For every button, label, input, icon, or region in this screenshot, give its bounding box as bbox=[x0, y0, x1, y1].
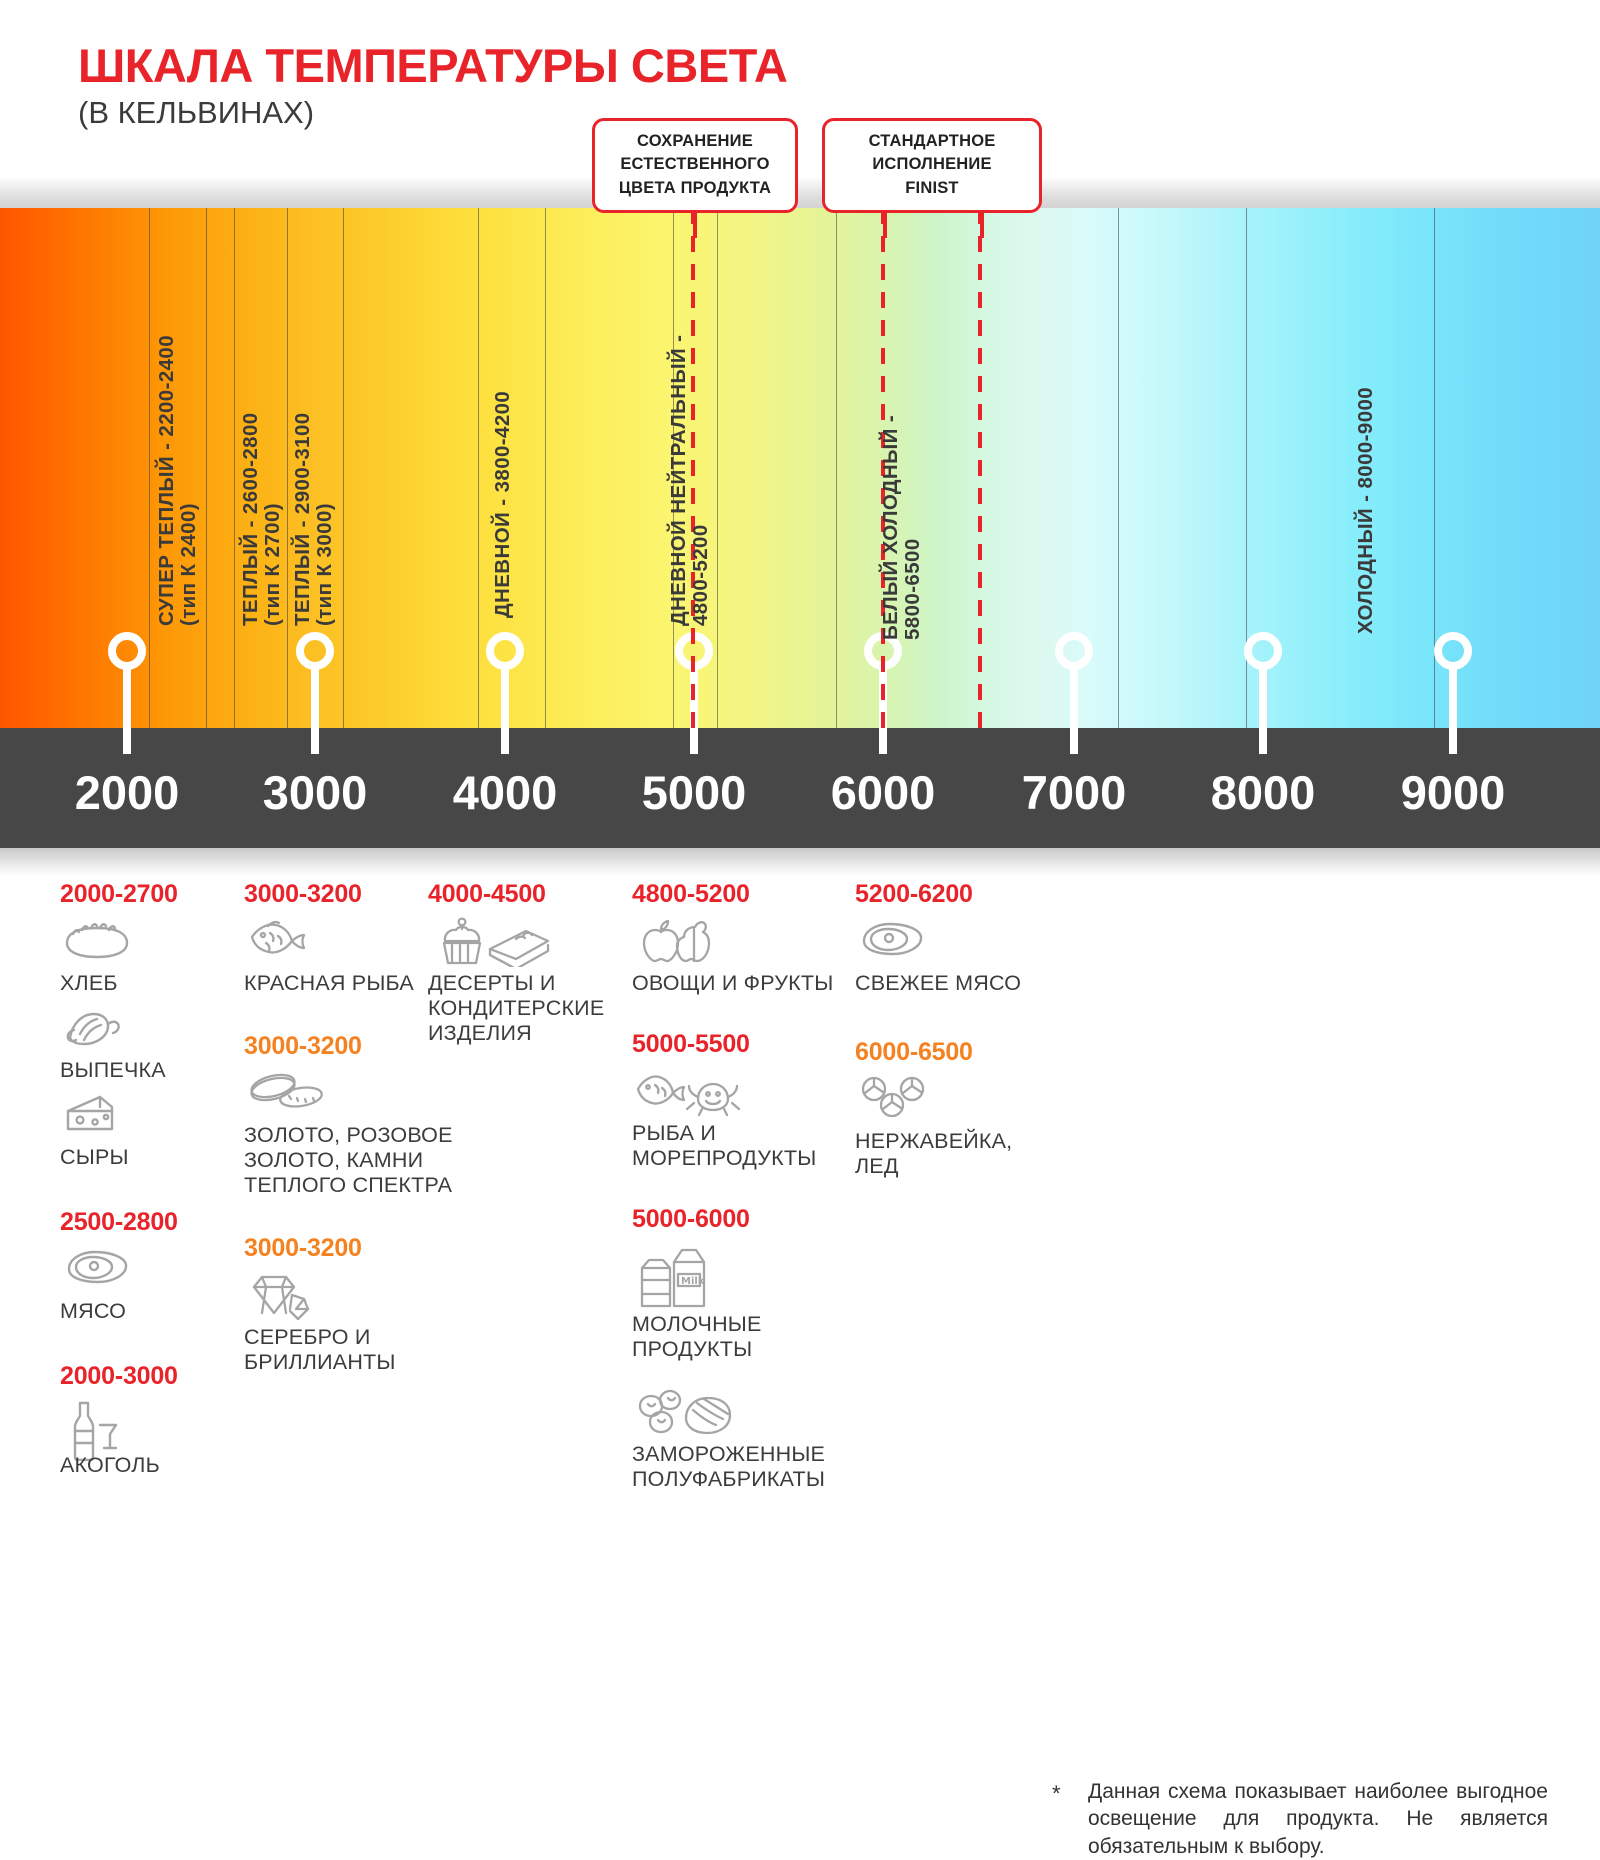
legend-range: 2000-2700 bbox=[60, 880, 235, 909]
legend-group: 4000-4500 ДЕСЕРТЫ И КОНДИТЕРСКИЕ ИЗДЕЛИЯ bbox=[428, 880, 628, 1046]
legend-caption: СЕРЕБРО И БРИЛЛИАНТЫ bbox=[244, 1325, 396, 1374]
legend-caption: ЗАМОРОЖЕННЫЕ ПОЛУФАБРИКАТЫ bbox=[632, 1442, 825, 1491]
croissant-icon bbox=[62, 1004, 235, 1056]
band-label-white-cold-main: БЕЛЫЙ ХОЛОДНЫЙ - bbox=[879, 415, 902, 640]
bottle-glass-icon bbox=[62, 1399, 235, 1451]
fresh-meat-icon bbox=[857, 917, 1035, 969]
legend-group: 6000-6500 НЕРЖАВЕЙКА, ЛЕД bbox=[855, 1038, 1035, 1179]
legend-item[interactable]: СВЕЖЕЕ МЯСО bbox=[855, 917, 1035, 996]
band-label-white-cold-sub: 5800-6500 bbox=[902, 310, 924, 640]
band-divider bbox=[343, 208, 344, 728]
band-label-cold-main: ХОЛОДНЫЙ - 8000-9000 bbox=[1354, 387, 1377, 634]
fish-crab-icon bbox=[634, 1067, 847, 1119]
scale-tick-7000: 7000 bbox=[1022, 765, 1127, 820]
pin-stem bbox=[311, 668, 319, 754]
legend-caption: КРАСНАЯ РЫБА bbox=[244, 971, 414, 995]
legend-group: 5000-6000 Milk МОЛОЧНЫЕ ПРОДУКТЫ ЗАМОРОЖ… bbox=[632, 1205, 847, 1492]
legend-item[interactable]: ОВОЩИ И ФРУКТЫ bbox=[632, 917, 847, 996]
pin-ring-icon bbox=[296, 632, 334, 670]
pin-ring-icon bbox=[1055, 632, 1093, 670]
footnote-text: Данная схема показывает наиболее выгодно… bbox=[1088, 1778, 1548, 1860]
legend-item[interactable]: НЕРЖАВЕЙКА, ЛЕД bbox=[855, 1075, 1035, 1179]
legend-caption: ЗОЛОТО, РОЗОВОЕ ЗОЛОТО, КАМНИ ТЕПЛОГО СП… bbox=[244, 1123, 453, 1197]
steak-icon bbox=[62, 1245, 235, 1297]
legend-group: 2000-3000 АКОГОЛЬ bbox=[60, 1362, 235, 1478]
legend-caption: МЯСО bbox=[60, 1299, 126, 1323]
rings-icon bbox=[246, 1069, 484, 1121]
cupcake-cake-icon bbox=[430, 917, 628, 969]
pin-ring-icon bbox=[1244, 632, 1282, 670]
callout-natural-color-line-2: ЕСТЕСТВЕННОГО bbox=[609, 153, 781, 176]
legend-item[interactable]: МЯСО bbox=[60, 1245, 235, 1324]
cheese-icon bbox=[62, 1091, 235, 1143]
legend-caption: АКОГОЛЬ bbox=[60, 1453, 160, 1477]
legend-caption: РЫБА И МОРЕПРОДУКТЫ bbox=[632, 1121, 816, 1170]
legend-range: 4800-5200 bbox=[632, 880, 847, 909]
legend-item[interactable]: ЗОЛОТО, РОЗОВОЕ ЗОЛОТО, КАМНИ ТЕПЛОГО СП… bbox=[244, 1069, 484, 1198]
strip-top-shadow bbox=[0, 176, 1600, 208]
legend-column-5: 5200-6200 СВЕЖЕЕ МЯСО 6000-6500 НЕРЖАВЕЙ… bbox=[855, 880, 1035, 1187]
band-label-super-warm: СУПЕР ТЕПЛЫЙ - 2200-2400 (тип К 2400) bbox=[156, 236, 200, 626]
legend-group: 4800-5200 ОВОЩИ И ФРУКТЫ bbox=[632, 880, 847, 996]
legend-column-1: 2000-2700 ХЛЕБ ВЫПЕЧКА СЫРЫ 25 bbox=[60, 880, 235, 1486]
scale-tick-5000: 5000 bbox=[642, 765, 747, 820]
legend-group: 3000-3200 СЕРЕБРО И БРИЛЛИАНТЫ bbox=[244, 1234, 484, 1375]
band-label-daylight-neutral-sub: 4800-5200 bbox=[690, 236, 712, 626]
scale-tick-8000: 8000 bbox=[1211, 765, 1316, 820]
band-divider bbox=[206, 208, 207, 728]
band-divider bbox=[287, 208, 288, 728]
pin-stem bbox=[1259, 668, 1267, 754]
pin-stem bbox=[1070, 668, 1078, 754]
header: ШКАЛА ТЕМПЕРАТУРЫ СВЕТА (В КЕЛЬВИНАХ) bbox=[0, 0, 1600, 200]
band-label-daylight-neutral: ДНЕВНОЙ НЕЙТРАЛЬНЫЙ - 4800-5200 bbox=[668, 236, 712, 626]
legend-group: 5200-6200 СВЕЖЕЕ МЯСО bbox=[855, 880, 1035, 996]
legend-column-4: 4800-5200 ОВОЩИ И ФРУКТЫ 5000-5500 РЫБА … bbox=[632, 880, 847, 1500]
band-label-daylight-neutral-main: ДНЕВНОЙ НЕЙТРАЛЬНЫЙ - bbox=[667, 335, 690, 626]
legend-item[interactable]: ДЕСЕРТЫ И КОНДИТЕРСКИЕ ИЗДЕЛИЯ bbox=[428, 917, 628, 1046]
footnote: * Данная схема показывает наиболее выгод… bbox=[1052, 1778, 1548, 1860]
legend-item[interactable]: ХЛЕБ bbox=[60, 917, 235, 996]
legend-caption: ОВОЩИ И ФРУКТЫ bbox=[632, 971, 833, 995]
band-label-warm-3000-sub: (тип К 3000) bbox=[314, 326, 336, 626]
band-label-warm-2700: ТЕПЛЫЙ - 2600-2800 (тип К 2700) bbox=[240, 326, 284, 626]
page-title: ШКАЛА ТЕМПЕРАТУРЫ СВЕТА bbox=[78, 38, 787, 93]
frozen-food-icon bbox=[634, 1388, 847, 1440]
band-divider bbox=[545, 208, 546, 728]
callout-finist-line-2: ИСПОЛНЕНИЕ bbox=[839, 153, 1025, 176]
legend-item[interactable]: РЫБА И МОРЕПРОДУКТЫ bbox=[632, 1067, 847, 1171]
legend-caption: НЕРЖАВЕЙКА, ЛЕД bbox=[855, 1129, 1012, 1178]
legend-range: 5200-6200 bbox=[855, 880, 1035, 909]
legend-column-3: 4000-4500 ДЕСЕРТЫ И КОНДИТЕРСКИЕ ИЗДЕЛИЯ bbox=[428, 880, 628, 1054]
scale-pin-3000[interactable] bbox=[296, 632, 334, 754]
dashed-marker-finist-right bbox=[978, 208, 982, 728]
legend-item[interactable]: СЫРЫ bbox=[60, 1091, 235, 1170]
legend-caption: ВЫПЕЧКА bbox=[60, 1058, 166, 1082]
callout-finist-standard[interactable]: СТАНДАРТНОЕ ИСПОЛНЕНИЕ FINIST bbox=[822, 118, 1042, 213]
scale-pin-8000[interactable] bbox=[1244, 632, 1282, 754]
footnote-marker: * bbox=[1052, 1780, 1061, 1809]
band-label-white-cold: БЕЛЫЙ ХОЛОДНЫЙ - 5800-6500 bbox=[880, 310, 924, 640]
band-label-daylight: ДНЕВНОЙ - 3800-4200 bbox=[492, 318, 514, 618]
bread-icon bbox=[62, 917, 235, 969]
pin-ring-icon bbox=[1434, 632, 1472, 670]
legend-item[interactable]: Milk МОЛОЧНЫЕ ПРОДУКТЫ bbox=[632, 1242, 847, 1362]
scale-pin-2000[interactable] bbox=[108, 632, 146, 754]
legend-item[interactable]: АКОГОЛЬ bbox=[60, 1399, 235, 1478]
scale-tick-9000: 9000 bbox=[1401, 765, 1506, 820]
scale-pin-7000[interactable] bbox=[1055, 632, 1093, 754]
pin-ring-icon bbox=[108, 632, 146, 670]
scale-tick-6000: 6000 bbox=[831, 765, 936, 820]
legend-caption: ДЕСЕРТЫ И КОНДИТЕРСКИЕ ИЗДЕЛИЯ bbox=[428, 971, 604, 1045]
legend-range: 4000-4500 bbox=[428, 880, 628, 909]
legend-range: 6000-6500 bbox=[855, 1038, 1035, 1067]
callout-finist-line-1: СТАНДАРТНОЕ bbox=[839, 130, 1025, 153]
band-divider bbox=[234, 208, 235, 728]
legend-range: 3000-3200 bbox=[244, 1234, 484, 1263]
band-divider bbox=[836, 208, 837, 728]
legend-caption: СЫРЫ bbox=[60, 1145, 129, 1169]
apple-pepper-icon bbox=[634, 917, 847, 969]
legend: 2000-2700 ХЛЕБ ВЫПЕЧКА СЫРЫ 25 bbox=[0, 880, 1600, 1600]
callout-natural-color[interactable]: СОХРАНЕНИЕ ЕСТЕСТВЕННОГО ЦВЕТА ПРОДУКТА bbox=[592, 118, 798, 213]
legend-range: 2500-2800 bbox=[60, 1208, 235, 1237]
legend-range: 2000-3000 bbox=[60, 1362, 235, 1391]
legend-caption: ХЛЕБ bbox=[60, 971, 118, 995]
legend-range: 5000-6000 bbox=[632, 1205, 847, 1234]
scale-tick-3000: 3000 bbox=[263, 765, 368, 820]
svg-text:Milk: Milk bbox=[681, 1276, 705, 1287]
legend-group: 2000-2700 ХЛЕБ ВЫПЕЧКА СЫРЫ bbox=[60, 880, 235, 1170]
ice-cubes-icon bbox=[857, 1075, 1035, 1127]
band-divider bbox=[717, 208, 718, 728]
band-label-warm-2700-sub: (тип К 2700) bbox=[262, 326, 284, 626]
legend-caption: СВЕЖЕЕ МЯСО bbox=[855, 971, 1021, 995]
legend-item[interactable]: ЗАМОРОЖЕННЫЕ ПОЛУФАБРИКАТЫ bbox=[632, 1388, 847, 1492]
legend-item[interactable]: ВЫПЕЧКА bbox=[60, 1004, 235, 1083]
callout-finist-line-3: FINIST bbox=[839, 177, 1025, 200]
scale-bar bbox=[0, 728, 1600, 848]
callout-natural-color-line-1: СОХРАНЕНИЕ bbox=[609, 130, 781, 153]
scale-tick-2000: 2000 bbox=[75, 765, 180, 820]
scale-pin-9000[interactable] bbox=[1434, 632, 1472, 754]
legend-group: 3000-3200 ЗОЛОТО, РОЗОВОЕ ЗОЛОТО, КАМНИ … bbox=[244, 1032, 484, 1198]
diamond-icon bbox=[246, 1271, 484, 1323]
page-subtitle: (В КЕЛЬВИНАХ) bbox=[78, 95, 314, 131]
spectrum-strip: СУПЕР ТЕПЛЫЙ - 2200-2400 (тип К 2400) ТЕ… bbox=[0, 208, 1600, 728]
band-label-super-warm-sub: (тип К 2400) bbox=[178, 236, 200, 626]
band-label-warm-3000-main: ТЕПЛЫЙ - 2900-3100 bbox=[291, 412, 314, 626]
band-divider bbox=[1118, 208, 1119, 728]
scale-pin-4000[interactable] bbox=[486, 632, 524, 754]
legend-item[interactable]: СЕРЕБРО И БРИЛЛИАНТЫ bbox=[244, 1271, 484, 1375]
band-label-warm-2700-main: ТЕПЛЫЙ - 2600-2800 bbox=[239, 412, 262, 626]
milk-carton-icon: Milk bbox=[634, 1242, 847, 1310]
pin-stem bbox=[501, 668, 509, 754]
pin-stem bbox=[1449, 668, 1457, 754]
band-label-super-warm-main: СУПЕР ТЕПЛЫЙ - 2200-2400 bbox=[155, 335, 178, 626]
scale-tick-4000: 4000 bbox=[453, 765, 558, 820]
pin-ring-icon bbox=[486, 632, 524, 670]
legend-range: 5000-5500 bbox=[632, 1030, 847, 1059]
band-label-warm-3000: ТЕПЛЫЙ - 2900-3100 (тип К 3000) bbox=[292, 326, 336, 626]
scale-bottom-shadow bbox=[0, 848, 1600, 876]
band-label-cold: ХОЛОДНЫЙ - 8000-9000 bbox=[1355, 304, 1377, 634]
legend-group: 5000-5500 РЫБА И МОРЕПРОДУКТЫ bbox=[632, 1030, 847, 1171]
band-divider bbox=[149, 208, 150, 728]
callout-natural-color-line-3: ЦВЕТА ПРОДУКТА bbox=[609, 177, 781, 200]
band-divider bbox=[478, 208, 479, 728]
legend-group: 2500-2800 МЯСО bbox=[60, 1208, 235, 1324]
band-label-daylight-main: ДНЕВНОЙ - 3800-4200 bbox=[491, 391, 514, 618]
pin-stem bbox=[123, 668, 131, 754]
legend-caption: МОЛОЧНЫЕ ПРОДУКТЫ bbox=[632, 1312, 762, 1361]
